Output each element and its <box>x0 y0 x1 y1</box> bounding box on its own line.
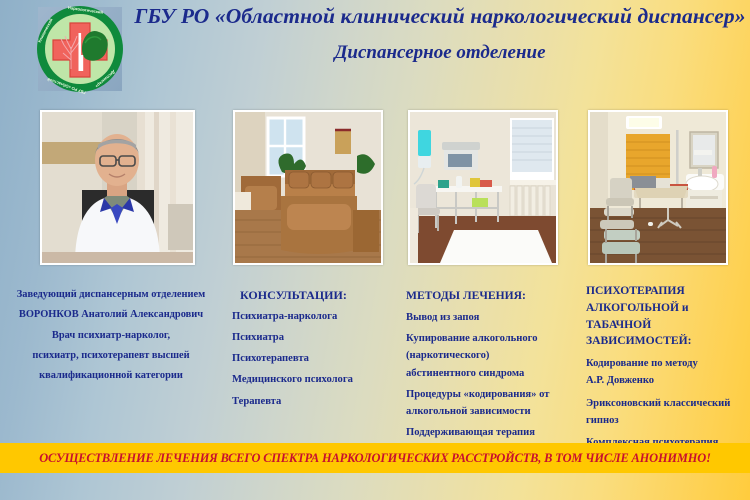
methods-heading: МЕТОДЫ ЛЕЧЕНИЯ: <box>406 286 586 305</box>
psychotherapy-item: Эриксоновский классический гипноз <box>586 395 750 429</box>
method-line: Процедуры «кодирования» от <box>406 386 586 403</box>
psychotherapy-heading-line: ЗАВИСИМОСТЕЙ: <box>586 333 750 350</box>
consultation-item: Психиатра <box>232 327 402 348</box>
consultation-item: Медицинского психолога <box>232 369 402 390</box>
method-line: алкогольной зависимости <box>406 403 586 420</box>
method-line: Вывод из запоя <box>406 309 586 326</box>
method-item: Вывод из запоя <box>406 309 586 326</box>
psychotherapy-heading-line: ТАБАЧНОЙ <box>586 317 750 334</box>
consultations-heading: КОНСУЛЬТАЦИИ: <box>232 286 402 306</box>
photo-treatment-room <box>408 110 558 265</box>
psychotherapy-heading-line: ПСИХОТЕРАПИЯ <box>586 283 750 300</box>
photo-strip <box>0 110 750 270</box>
method-line: Поддерживающая терапия <box>406 424 586 441</box>
page-title: ГБУ РО «Областной клинический наркологич… <box>132 4 748 29</box>
psychotherapy-item: Кодирование по методу А.Р. Довженко <box>586 355 750 389</box>
method-line: абстинентного синдрома <box>406 365 586 382</box>
banner-text: ОСУЩЕСТВЛЕНИЕ ЛЕЧЕНИЯ ВСЕГО СПЕКТРА НАРК… <box>39 451 711 466</box>
clinic-emblem-icon: Клинический Наркологический ГБУ РО «Обла… <box>33 3 127 95</box>
method-line: (наркотического) <box>406 347 586 364</box>
psychotherapy-line: Эриксоновский классический <box>586 395 750 412</box>
method-item: Процедуры «кодирования» от алкогольной з… <box>406 386 586 420</box>
doctor-line: психиатр, психотерапевт высшей <box>2 346 220 366</box>
poster-canvas: Клинический Наркологический ГБУ РО «Обла… <box>0 0 750 500</box>
photo-department-head <box>40 110 195 265</box>
method-item: Поддерживающая терапия <box>406 424 586 441</box>
psychotherapy-line: Кодирование по методу <box>586 355 750 372</box>
column-psychotherapy: ПСИХОТЕРАПИЯ АЛКОГОЛЬНОЙ и ТАБАЧНОЙ ЗАВИ… <box>586 283 750 451</box>
page-subtitle: Диспансерное отделение <box>132 42 748 64</box>
photo-procedure-room <box>588 110 728 265</box>
psychotherapy-line: А.Р. Довженко <box>586 372 750 389</box>
method-item: Купирование алкогольного (наркотического… <box>406 330 586 381</box>
column-treatment-methods: МЕТОДЫ ЛЕЧЕНИЯ: Вывод из запоя Купирован… <box>406 286 586 441</box>
bottom-banner: ОСУЩЕСТВЛЕНИЕ ЛЕЧЕНИЯ ВСЕГО СПЕКТРА НАРК… <box>0 443 750 473</box>
column-department-head: Заведующий диспансерным отделением ВОРОН… <box>2 285 220 386</box>
doctor-line: квалификационной категории <box>2 366 220 386</box>
psychotherapy-line: гипноз <box>586 412 750 429</box>
method-line: Купирование алкогольного <box>406 330 586 347</box>
psychotherapy-heading-line: АЛКОГОЛЬНОЙ и <box>586 300 750 317</box>
header-text-block: ГБУ РО «Областной клинический наркологич… <box>132 4 748 64</box>
poster-header: Клинический Наркологический ГБУ РО «Обла… <box>0 0 750 98</box>
photo-waiting-room <box>233 110 383 265</box>
consultation-item: Терапевта <box>232 391 402 412</box>
consultation-item: Психиатра-нарколога <box>232 306 402 327</box>
doctor-line: ВОРОНКОВ Анатолий Александрович <box>2 305 220 325</box>
doctor-line: Заведующий диспансерным отделением <box>2 285 220 305</box>
emblem-graphic: Клинический Наркологический ГБУ РО «Обла… <box>33 3 127 95</box>
doctor-line: Врач психиатр-нарколог, <box>2 326 220 346</box>
column-consultations: КОНСУЛЬТАЦИИ: Психиатра-нарколога Психиа… <box>232 286 402 412</box>
consultation-item: Психотерапевта <box>232 348 402 369</box>
